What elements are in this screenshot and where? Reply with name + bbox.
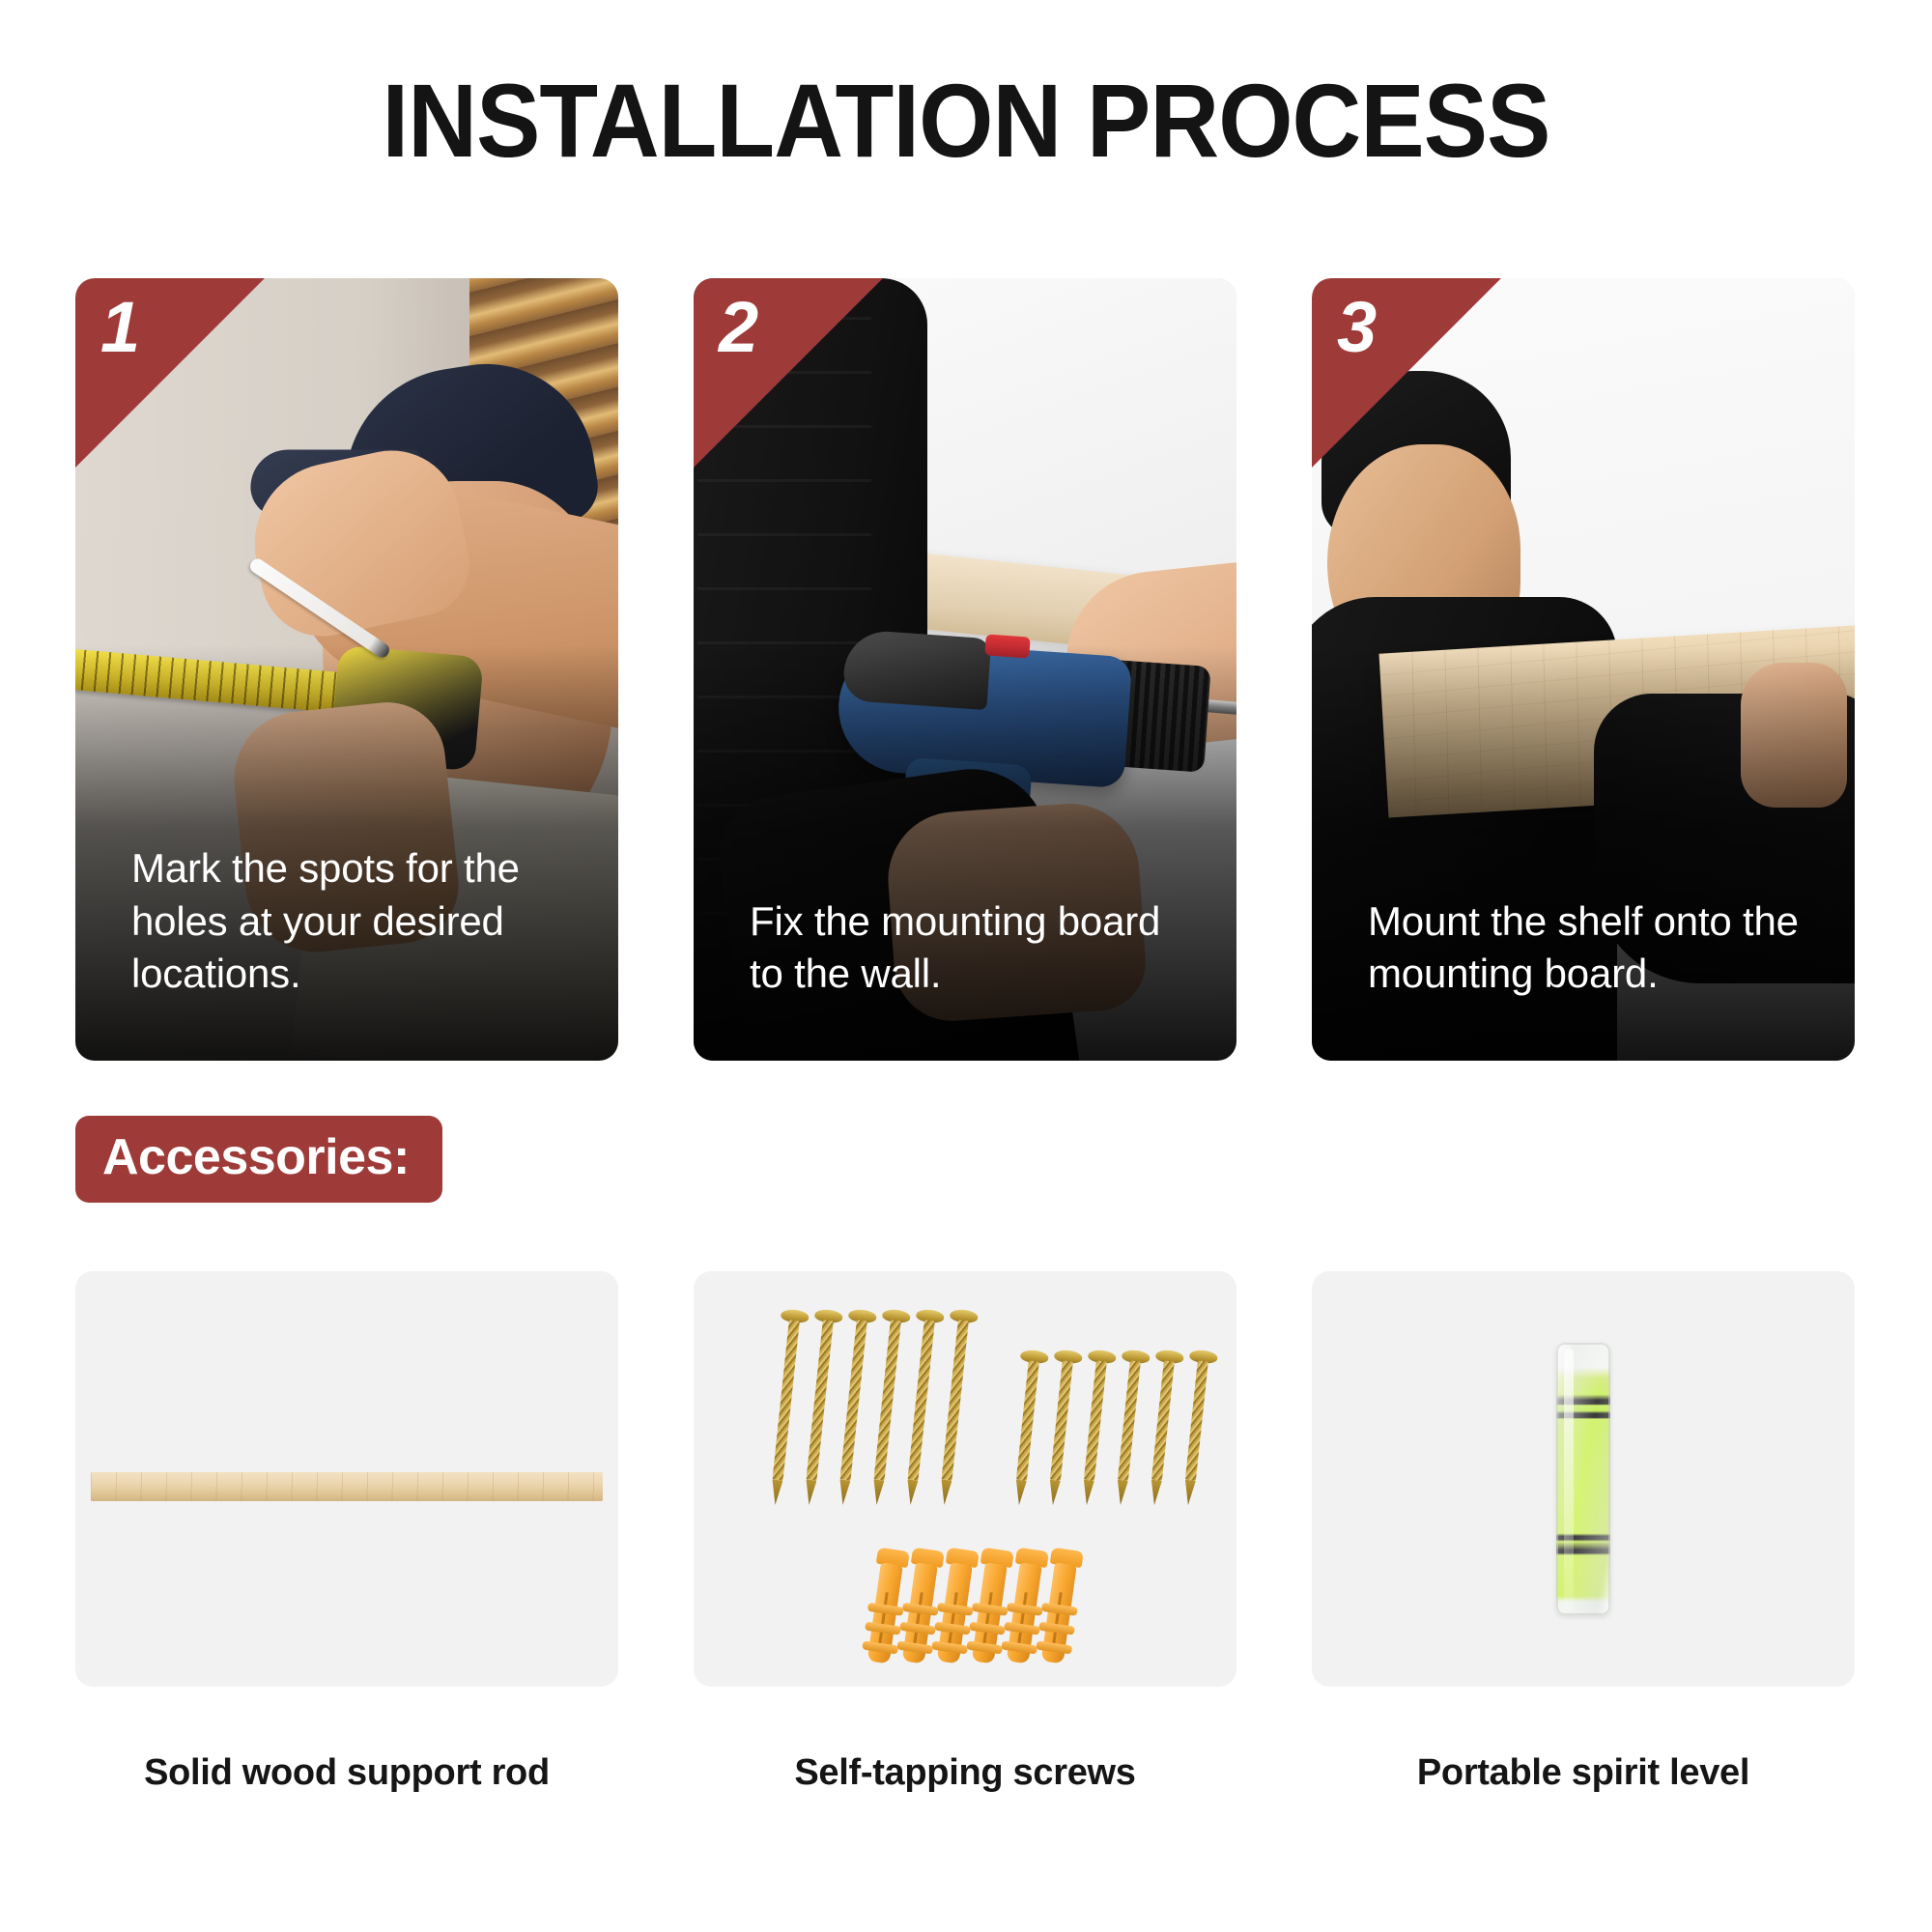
screw-icon (790, 1309, 801, 1310)
accessory-item-rod[interactable]: Solid wood support rod (75, 1271, 618, 1794)
screw-tip (1182, 1480, 1196, 1506)
screw-icon (1030, 1350, 1040, 1350)
screw-shaft (908, 1320, 935, 1480)
screw-icon (1199, 1350, 1209, 1350)
screw-tip (1047, 1480, 1061, 1506)
screw-icon (1064, 1350, 1074, 1350)
screw-tip (770, 1479, 783, 1505)
screw-shaft (942, 1320, 969, 1480)
accessory-label: Portable spirit level (1312, 1752, 1855, 1794)
screw-tip (1013, 1480, 1027, 1506)
screw-shaft (1118, 1360, 1141, 1480)
screw-icon (959, 1309, 970, 1310)
step-card-3[interactable]: 3 Mount the shelf onto the mounting boar… (1312, 278, 1855, 1061)
screw-icon (892, 1309, 902, 1310)
accessories-row: Solid wood support rod Self-tapping scre… (75, 1271, 1857, 1794)
step-card-2[interactable]: 2 Fix the mounting board to the wall. (694, 278, 1236, 1061)
infographic-page: INSTALLATION PROCESS 1 (0, 0, 1932, 1932)
screw-tip (1115, 1480, 1128, 1506)
screw-tip (871, 1479, 885, 1505)
wooden-rod-icon (91, 1472, 603, 1501)
accessory-label: Solid wood support rod (75, 1752, 618, 1794)
step-caption-1: Mark the spots for the holes at your des… (131, 842, 576, 1001)
spirit-level-icon (1556, 1343, 1610, 1615)
screw-tip (1149, 1480, 1162, 1506)
screw-shaft (1050, 1360, 1073, 1480)
screw-tip (838, 1479, 851, 1505)
accessory-image-panel (75, 1271, 618, 1687)
step-caption-2: Fix the mounting board to the wall. (750, 895, 1194, 1001)
screw-shaft (1151, 1360, 1175, 1480)
screw-tip (804, 1479, 817, 1505)
screw-shaft (807, 1320, 834, 1480)
screw-icon (858, 1309, 868, 1310)
accessory-item-level[interactable]: Portable spirit level (1312, 1271, 1855, 1794)
screw-shaft (1084, 1360, 1107, 1480)
screw-icon (925, 1309, 936, 1310)
accessories-badge: Accessories: (75, 1116, 442, 1203)
accessory-item-screws[interactable]: Self-tapping screws (694, 1271, 1236, 1794)
screw-icon (1131, 1350, 1142, 1350)
screw-shaft (773, 1320, 800, 1480)
screw-tip (1081, 1480, 1094, 1506)
page-title: INSTALLATION PROCESS (77, 60, 1855, 181)
screw-shaft (840, 1320, 867, 1480)
step-cards-row: 1 Mark the spots for the holes at your d… (75, 278, 1857, 1061)
screw-icon (1165, 1350, 1176, 1350)
accessory-image-panel (694, 1271, 1236, 1687)
screw-tip (939, 1479, 952, 1505)
step-caption-3: Mount the shelf onto the mounting board. (1368, 895, 1812, 1001)
accessory-label: Self-tapping screws (694, 1752, 1236, 1794)
accessory-image-panel (1312, 1271, 1855, 1687)
step-card-1[interactable]: 1 Mark the spots for the holes at your d… (75, 278, 618, 1061)
screw-tip (905, 1479, 919, 1505)
screw-shaft (874, 1320, 901, 1480)
screw-icon (824, 1309, 835, 1310)
screw-shaft (1016, 1360, 1039, 1480)
screw-shaft (1185, 1360, 1208, 1480)
screw-icon (1097, 1350, 1108, 1350)
